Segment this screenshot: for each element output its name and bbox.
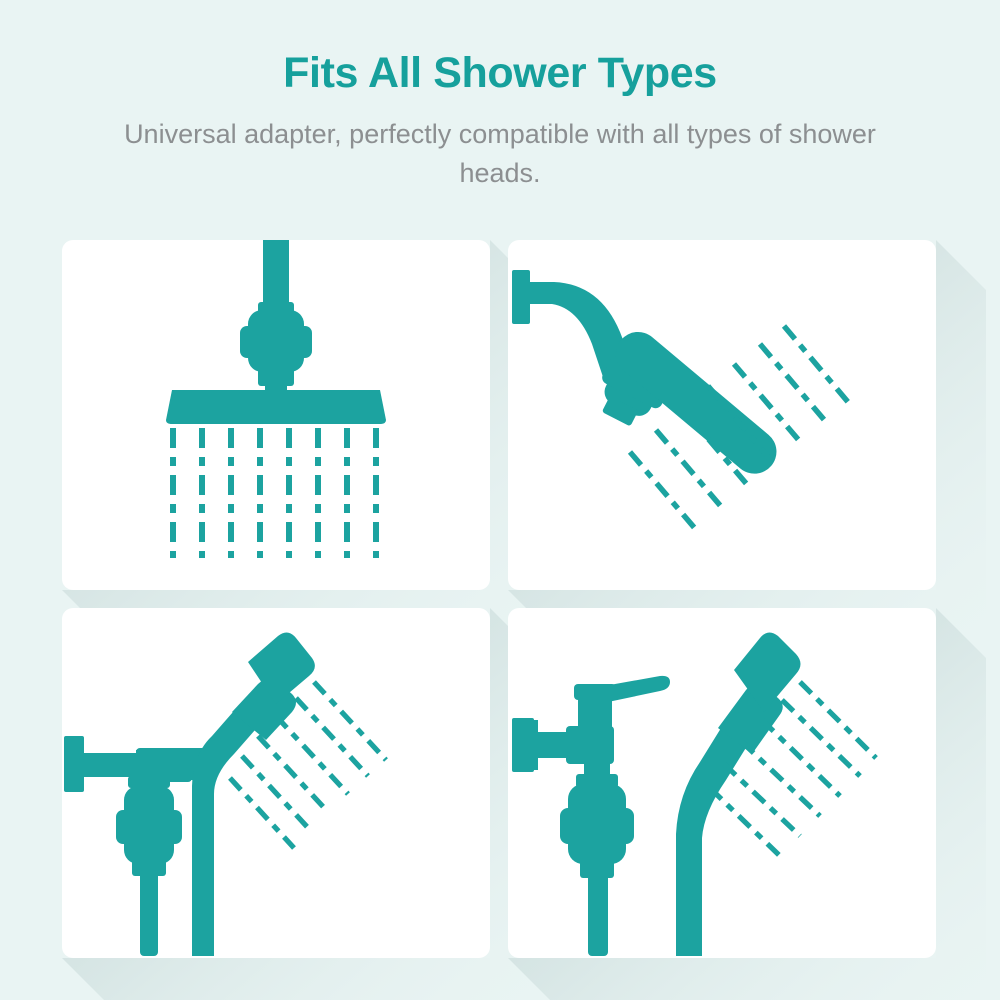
header: Fits All Shower Types Universal adapter,… [0,0,1000,192]
panel-ceiling-rain-shower[interactable] [62,240,490,590]
shower-type-grid [62,240,936,958]
ceiling-rain-shower-icon [62,240,490,590]
promo-page: Fits All Shower Types Universal adapter,… [0,0,1000,1000]
page-title: Fits All Shower Types [0,0,1000,97]
page-subtitle: Universal adapter, perfectly compatible … [120,97,880,192]
panel-wall-mount-shower[interactable] [508,240,936,590]
panel-handheld-on-bracket[interactable] [62,608,490,958]
wall-mount-shower-icon [508,240,936,590]
panel-faucet-handheld[interactable] [508,608,936,958]
faucet-handheld-shower-icon [508,608,936,958]
handheld-bracket-shower-icon [62,608,490,958]
